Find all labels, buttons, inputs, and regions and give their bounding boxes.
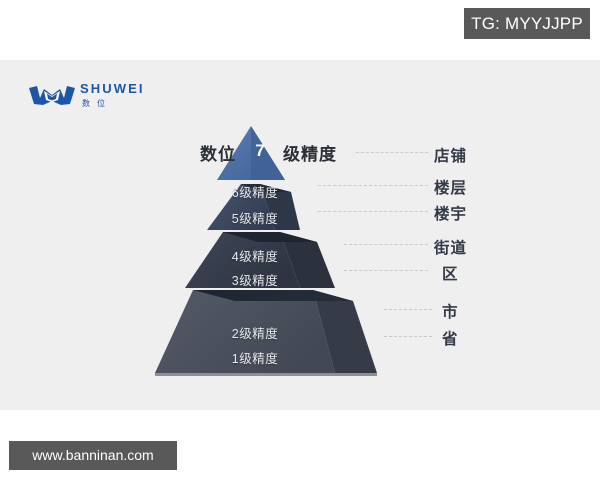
tier-label-1: 1级精度 <box>155 348 355 367</box>
side-label-shop: 店铺 <box>434 144 467 166</box>
site-url-watermark: www.banninan.com <box>9 441 177 470</box>
shuwei-crown-logo-icon <box>28 82 76 113</box>
connector-line-1 <box>384 336 432 337</box>
side-label-street: 街道 <box>434 236 467 258</box>
shuwei-logo: SHUWEI 数位 <box>28 80 153 114</box>
side-label-province: 省 <box>442 327 459 349</box>
tg-watermark-badge: TG: MYYJJPP <box>464 8 590 39</box>
connector-line-5 <box>318 211 428 212</box>
side-label-building: 楼宇 <box>434 202 467 224</box>
logo-chinese-text: 数位 <box>80 98 152 110</box>
connector-line-4 <box>344 244 428 245</box>
side-label-floor: 楼层 <box>434 176 467 198</box>
side-label-district: 区 <box>442 262 459 284</box>
logo-latin-text: SHUWEI <box>80 81 145 96</box>
tier-label-4: 4级精度 <box>155 246 355 265</box>
tier-label-3: 3级精度 <box>155 270 355 289</box>
logo-wordmark: SHUWEI 数位 <box>80 80 152 110</box>
tier-label-2: 2级精度 <box>155 323 355 342</box>
connector-line-7 <box>356 152 428 153</box>
connector-line-3 <box>344 270 428 271</box>
side-label-city: 市 <box>442 300 459 322</box>
connector-line-2 <box>384 309 432 310</box>
connector-line-6 <box>318 185 428 186</box>
precision-pyramid-diagram: 6级精度 5级精度 4级精度 3级精度 2级精度 1级精度 <box>95 118 415 380</box>
